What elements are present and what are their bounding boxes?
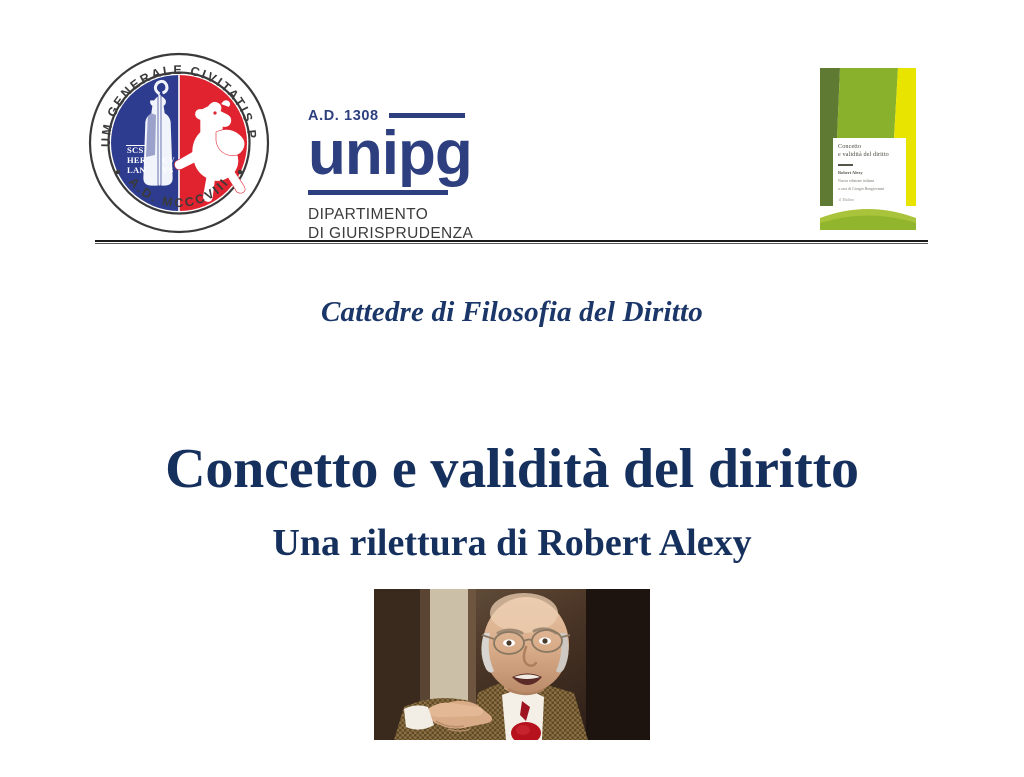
seal-graphic: SCS HER LAN CV VS STUDIUM GENERALE CIVIT… bbox=[88, 52, 270, 234]
unipg-logo: A.D. 1308 unipg DIPARTIMENTO DI GIURISPR… bbox=[308, 108, 508, 238]
header-rule-thin bbox=[95, 243, 928, 244]
seal-inner-text-cv: CV bbox=[162, 155, 175, 165]
book-label-rule bbox=[838, 164, 853, 166]
unipg-underbar bbox=[308, 190, 448, 195]
slide-kicker: Cattedre di Filosofia del Diritto bbox=[0, 296, 1024, 329]
header-divider-rule bbox=[95, 240, 928, 244]
seal-inner-text-vs: VS bbox=[162, 165, 173, 175]
header-rule-thick bbox=[95, 240, 928, 242]
seal-inner-text-lan: LAN bbox=[127, 165, 146, 175]
portrait-graphic bbox=[374, 589, 650, 740]
university-seal-logo: SCS HER LAN CV VS STUDIUM GENERALE CIVIT… bbox=[88, 52, 270, 234]
unipg-department-block: DIPARTIMENTO DI GIURISPRUDENZA bbox=[308, 205, 508, 244]
book-title-line1: Concetto bbox=[838, 143, 902, 151]
portrait-photo bbox=[374, 589, 650, 740]
book-subline2: a cura di Giorgio Bongiovanni bbox=[838, 187, 902, 193]
unipg-department-line1: DIPARTIMENTO bbox=[308, 205, 508, 224]
book-cover-thumbnail: Concetto e validità del diritto Robert A… bbox=[812, 60, 922, 238]
seal-inner-text-scs: SCS bbox=[127, 145, 144, 155]
slide-subtitle: Una rilettura di Robert Alexy bbox=[0, 521, 1024, 565]
unipg-wordmark: unipg bbox=[308, 125, 508, 184]
book-publisher: il Mulino bbox=[839, 198, 854, 202]
book-subline1: Nuova edizione italiana bbox=[838, 179, 902, 185]
book-author: Robert Alexy bbox=[838, 170, 902, 176]
book-title-line2: e validità del diritto bbox=[838, 151, 902, 159]
slide-header: SCS HER LAN CV VS STUDIUM GENERALE CIVIT… bbox=[0, 0, 1024, 250]
book-cover-label: Concetto e validità del diritto Robert A… bbox=[833, 138, 906, 206]
seal-inner-text-her: HER bbox=[127, 155, 147, 165]
slide-title: Concetto e validità del diritto bbox=[0, 437, 1024, 501]
unipg-ad-bar bbox=[389, 113, 465, 118]
